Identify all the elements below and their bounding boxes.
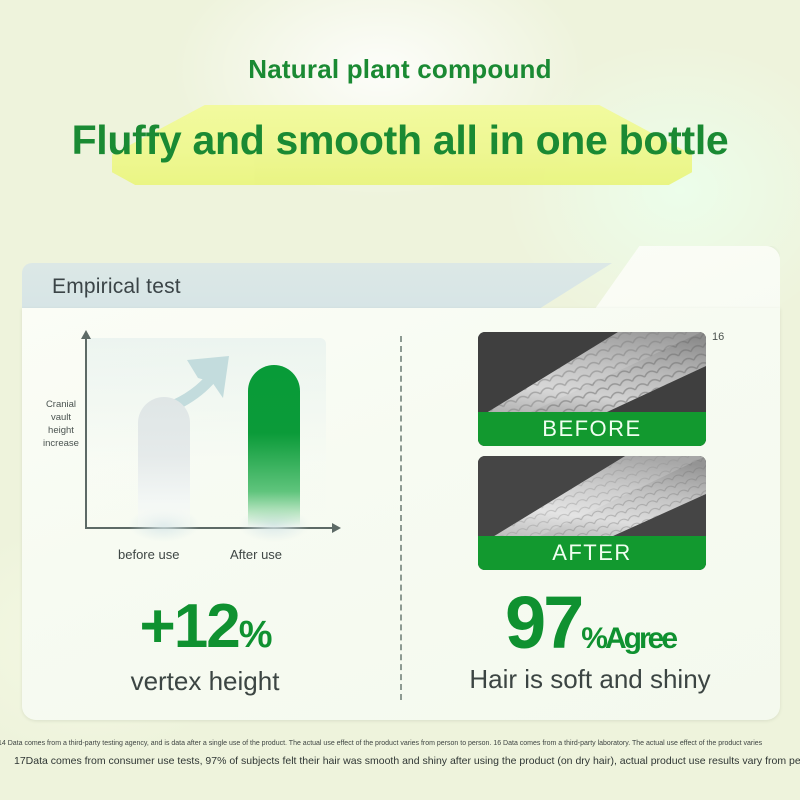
footnote-line-2: 17Data comes from consumer use tests, 97…	[14, 754, 800, 769]
stat-agree-unit: %	[581, 622, 605, 655]
footnote-superscript-16: 16	[712, 331, 724, 343]
footnote-line-1: 14 Data comes from a third-party testing…	[0, 738, 800, 749]
stat-agree-value: 97%Agree	[440, 586, 740, 660]
after-label: AFTER	[478, 536, 706, 570]
chart-y-axis	[85, 338, 87, 528]
chart-bar-after-use	[248, 365, 300, 527]
chart-bar-before-use	[138, 397, 190, 527]
stat-agree-caption: Hair is soft and shiny	[440, 664, 740, 695]
stat-agree-number: 97	[505, 581, 581, 664]
stat-vertex-height-unit: %	[239, 614, 271, 656]
stat-vertex-height-value: +12%	[60, 596, 350, 658]
card-top-notch	[590, 246, 780, 316]
y-axis-label-line-4: increase	[38, 437, 84, 450]
before-after-comparison: BEFORE	[478, 332, 706, 572]
hero-eyebrow: Natural plant compound	[0, 54, 800, 85]
micrograph-panel-before: BEFORE	[478, 332, 706, 446]
before-label: BEFORE	[478, 412, 706, 446]
stat-agree: 97%Agree Hair is soft and shiny	[440, 586, 740, 695]
stat-vertex-height: +12% vertex height	[60, 596, 350, 697]
y-axis-label-line-3: height	[38, 424, 84, 437]
stat-vertex-height-caption: vertex height	[60, 666, 350, 697]
hero-section: Natural plant compound Fluffy and smooth…	[0, 0, 800, 215]
y-axis-label-line-1: Cranial	[38, 398, 84, 411]
stat-agree-suffix: Agree	[605, 622, 675, 655]
chart-xtick-after-use: After use	[230, 547, 282, 562]
hero-headline: Fluffy and smooth all in one bottle	[0, 117, 800, 164]
stat-vertex-height-number: +12	[140, 592, 239, 661]
section-tab-label: Empirical test	[52, 275, 181, 299]
cranial-vault-bar-chart: Cranial vault height increase before use…	[48, 330, 348, 560]
chart-y-axis-label: Cranial vault height increase	[38, 398, 84, 450]
vertical-dashed-divider	[400, 336, 402, 700]
micrograph-panel-after: AFTER	[478, 456, 706, 570]
y-axis-label-line-2: vault	[38, 411, 84, 424]
chart-xtick-before-use: before use	[118, 547, 179, 562]
